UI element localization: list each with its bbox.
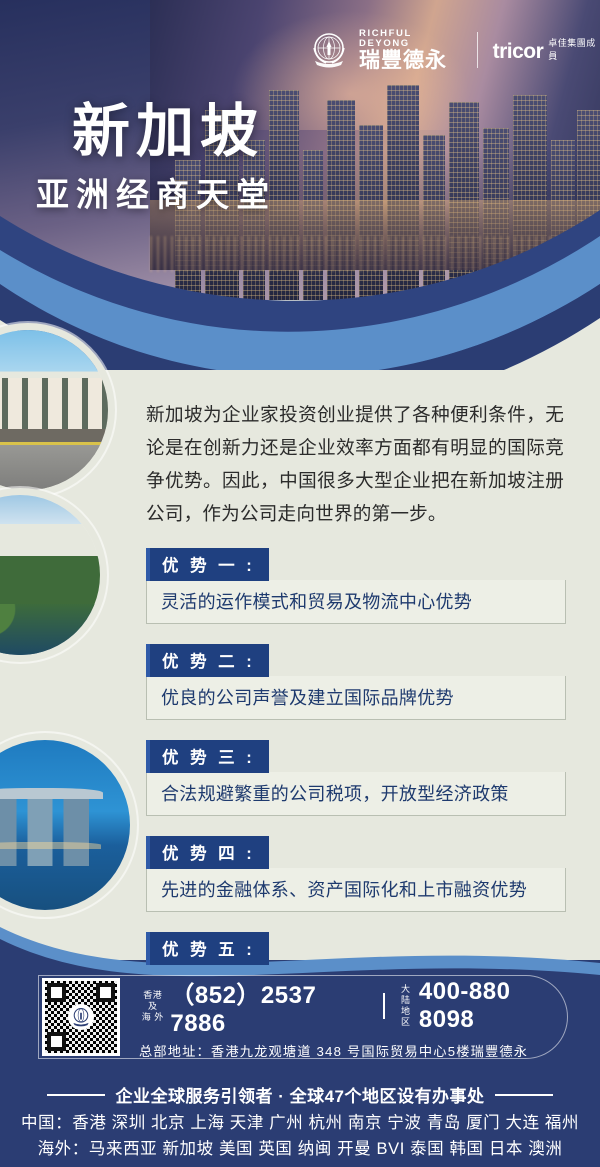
advantage-tag: 优 势 三 : [146, 740, 269, 773]
advantage-tag: 优 势 一 : [146, 548, 269, 581]
hk-phone-number[interactable]: （852）2537 7886 [170, 975, 370, 1038]
advantage-item: 优 势 一 : 灵活的运作模式和贸易及物流中心优势 [146, 548, 566, 624]
footer-slogan: 企业全球服务引领者 · 全球47个地区设有办事处 [115, 1082, 484, 1107]
cn-phone-number[interactable]: 400-880 8098 [419, 978, 567, 1034]
slogan-rule-left [47, 1094, 105, 1096]
advantage-item: 优 势 四 : 先进的金融体系、资产国际化和上市融资优势 [146, 836, 566, 912]
office-regions: 中国：香港 深圳 北京 上海 天津 广州 杭州 南京 宁波 青岛 厦门 大连 福… [0, 1110, 600, 1162]
slogan-rule-right [495, 1094, 553, 1096]
page-subtitle: 亚洲经商天堂 [36, 168, 276, 216]
hk-phone-label: 香港及 海 外 [139, 990, 166, 1023]
logo-english-name: RICHFUL DEYONG [359, 29, 462, 48]
marina-bay-sands-photo [0, 740, 130, 910]
advantage-text: 优良的公司声誉及建立国际品牌优势 [146, 676, 566, 720]
logo-chinese-name: 瑞豐德永 [359, 50, 462, 71]
china-offices: 中国：香港 深圳 北京 上海 天津 广州 杭州 南京 宁波 青岛 厦门 大连 福… [0, 1110, 600, 1136]
qr-code-icon[interactable] [42, 978, 120, 1056]
advantage-tag: 优 势 四 : [146, 836, 269, 869]
advantage-tag: 优 势 二 : [146, 644, 269, 677]
partner-logo-chinese: 卓佳集團成員 [548, 36, 600, 64]
phone-separator [383, 993, 385, 1019]
brand-logo: RICHFUL DEYONG 瑞豐德永 tricor 卓佳集團成員 [307, 28, 600, 72]
phone-row: 香港及 海 外 （852）2537 7886 大陆 地区 400-880 809… [139, 975, 567, 1038]
city-greenery-photo [0, 495, 100, 655]
overseas-offices: 海外：马来西亚 新加坡 美国 英国 纳闽 开曼 BVI 泰国 韩国 日本 澳洲 [0, 1136, 600, 1162]
footer-slogan-row: 企业全球服务引领者 · 全球47个地区设有办事处 [0, 1082, 600, 1107]
intro-paragraph: 新加坡为企业家投资创业提供了各种便利条件，无论是在创新力还是企业效率方面都有明显… [146, 398, 564, 530]
advantage-text: 灵活的运作模式和贸易及物流中心优势 [146, 580, 566, 624]
page-title: 新加坡 [72, 84, 264, 168]
head-office-address: 总部地址：香港九龙观塘道 348 号国际贸易中心5楼瑞豐德永 [139, 1041, 567, 1060]
partner-logo-name: tricor [493, 40, 544, 64]
advantage-text: 合法规避繁重的公司税项，开放型经济政策 [146, 772, 566, 816]
shophouse-street-photo [0, 330, 108, 490]
qr-embedded-crest-icon [68, 1004, 94, 1030]
advantage-tag: 优 势 五 : [146, 932, 269, 965]
cn-phone-label: 大陆 地区 [397, 984, 415, 1028]
company-crest-icon [307, 28, 351, 72]
advantage-item: 优 势 三 : 合法规避繁重的公司税项，开放型经济政策 [146, 740, 566, 816]
logo-divider [477, 32, 478, 68]
advantage-item: 优 势 二 : 优良的公司声誉及建立国际品牌优势 [146, 644, 566, 720]
